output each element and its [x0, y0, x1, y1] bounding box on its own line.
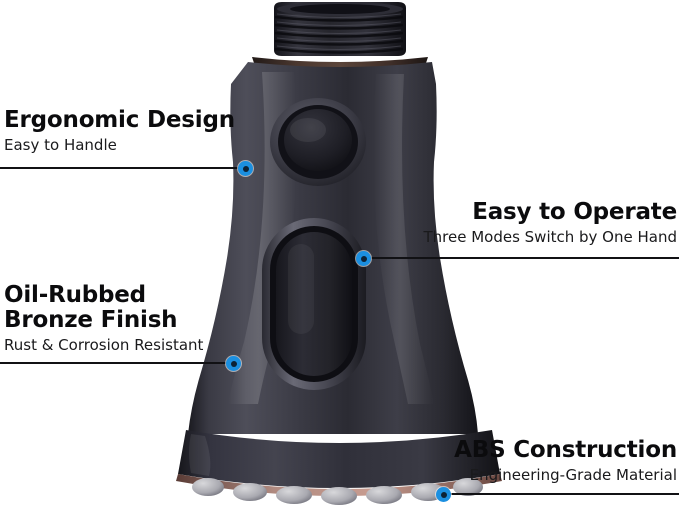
leader-line-ergonomic-design [0, 167, 244, 169]
round-push-button [270, 98, 366, 186]
callout-title: ABS Construction [337, 438, 677, 463]
marker-dot-abs-construction[interactable] [436, 487, 451, 502]
leader-line-abs-construction [450, 493, 679, 495]
callout-subtitle: Easy to Handle [4, 135, 244, 155]
callout-title: Oil-Rubbed Bronze Finish [4, 283, 244, 333]
callout-title: Easy to Operate [297, 200, 677, 225]
callout-ergonomic-design: Ergonomic Design Easy to Handle [4, 108, 244, 155]
marker-dot-oil-rubbed-bronze-finish[interactable] [226, 356, 241, 371]
callout-subtitle: Rust & Corrosion Resistant [4, 335, 244, 355]
callout-abs-construction: ABS Construction Engineering-Grade Mater… [337, 438, 677, 485]
marker-dot-ergonomic-design[interactable] [238, 161, 253, 176]
infographic-canvas: Ergonomic Design Easy to Handle Easy to … [0, 0, 679, 513]
callout-subtitle: Engineering-Grade Material [337, 465, 677, 485]
callout-subtitle: Three Modes Switch by One Hand [297, 227, 677, 247]
leader-line-easy-to-operate [370, 257, 679, 259]
callout-oil-rubbed-bronze-finish: Oil-Rubbed Bronze Finish Rust & Corrosio… [4, 283, 244, 355]
leader-line-oil-rubbed-bronze-finish [0, 362, 232, 364]
marker-dot-easy-to-operate[interactable] [356, 251, 371, 266]
callout-title: Ergonomic Design [4, 108, 244, 133]
callout-easy-to-operate: Easy to Operate Three Modes Switch by On… [297, 200, 677, 247]
threaded-connector [274, 2, 406, 56]
